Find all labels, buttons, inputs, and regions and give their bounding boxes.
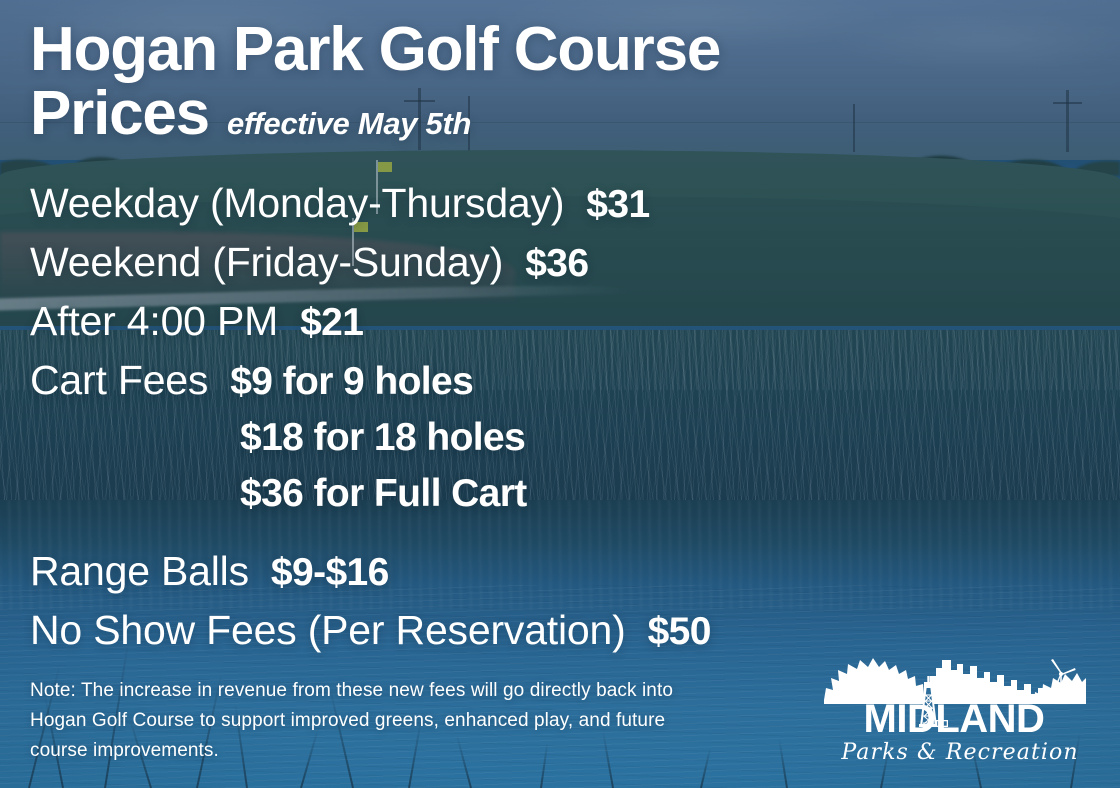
spacer: [30, 528, 1090, 548]
price-row: Range Balls $9-$16: [30, 548, 1090, 607]
page-title-line-2-group: Prices effective May 5th: [30, 82, 720, 146]
page-title-line-2: Prices: [30, 82, 209, 146]
price-row: Cart Fees $9 for 9 holes: [30, 357, 1090, 416]
price-row: Weekday (Monday-Thursday) $31: [30, 180, 1090, 239]
page-title-line-1: Hogan Park Golf Course: [30, 18, 720, 82]
note-text: Note: The increase in revenue from these…: [30, 676, 720, 766]
midland-parks-recreation-logo: MIDLAND Parks & Recreation: [820, 648, 1088, 766]
price-list: Weekday (Monday-Thursday) $31 Weekend (F…: [30, 180, 1090, 666]
poster-title-block: Hogan Park Golf Course Prices effective …: [30, 18, 720, 146]
price-value: $9-$16: [271, 551, 389, 595]
logo-tagline: Parks & Recreation: [840, 740, 1078, 765]
price-value: $31: [586, 183, 649, 227]
price-row-sub: $18 for 18 holes: [30, 416, 1090, 472]
price-row-sub: $36 for Full Cart: [30, 472, 1090, 528]
price-value: $18 for 18 holes: [240, 416, 525, 460]
price-label: No Show Fees (Per Reservation): [30, 607, 626, 654]
price-value: $9 for 9 holes: [230, 360, 473, 404]
price-value: $36: [525, 242, 588, 286]
price-value: $50: [648, 610, 711, 654]
price-label: Range Balls: [30, 548, 249, 595]
price-row: Weekend (Friday-Sunday) $36: [30, 239, 1090, 298]
effective-date-label: effective May 5th: [227, 107, 471, 141]
price-label: Cart Fees: [30, 357, 208, 404]
price-label: After 4:00 PM: [30, 298, 278, 345]
poster: Hogan Park Golf Course Prices effective …: [0, 0, 1120, 788]
price-value: $36 for Full Cart: [240, 472, 527, 516]
price-label: Weekend (Friday-Sunday): [30, 239, 503, 286]
price-label: Weekday (Monday-Thursday): [30, 180, 564, 227]
price-row: After 4:00 PM $21: [30, 298, 1090, 357]
poster-content: Hogan Park Golf Course Prices effective …: [0, 0, 1120, 788]
price-value: $21: [300, 301, 363, 345]
logo-wordmark: MIDLAND: [864, 697, 1045, 741]
